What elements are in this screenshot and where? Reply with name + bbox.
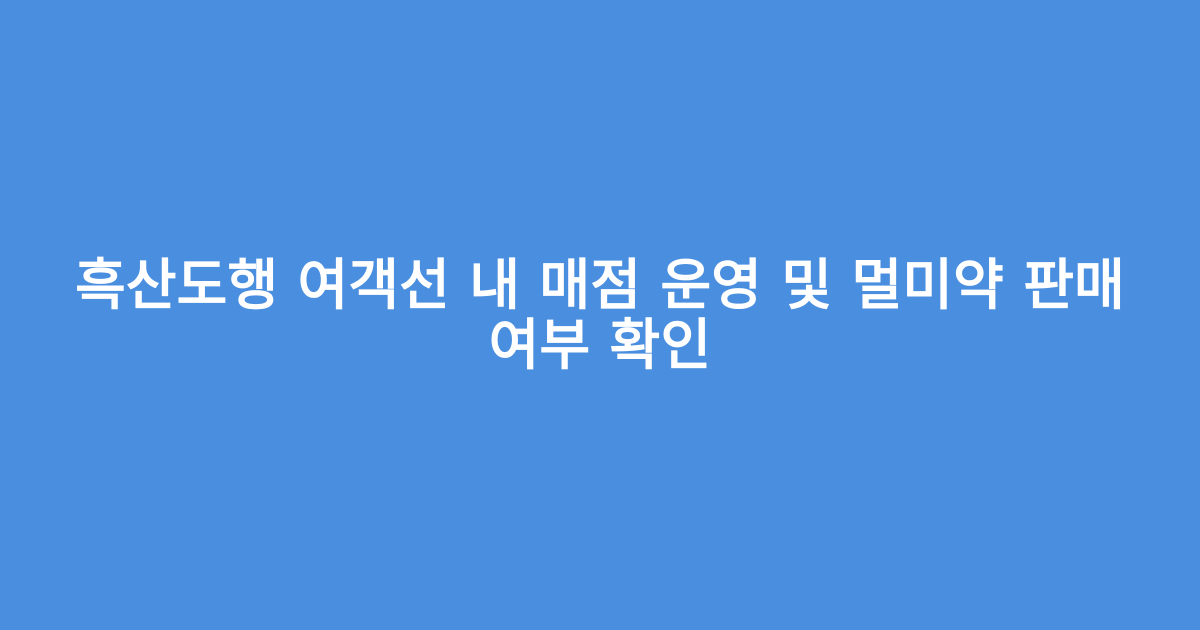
title-card: 흑산도행 여객선 내 매점 운영 및 멀미약 판매 여부 확인 [0,0,1200,630]
title-block: 흑산도행 여객선 내 매점 운영 및 멀미약 판매 여부 확인 [68,255,1132,375]
page-title: 흑산도행 여객선 내 매점 운영 및 멀미약 판매 여부 확인 [68,255,1132,375]
